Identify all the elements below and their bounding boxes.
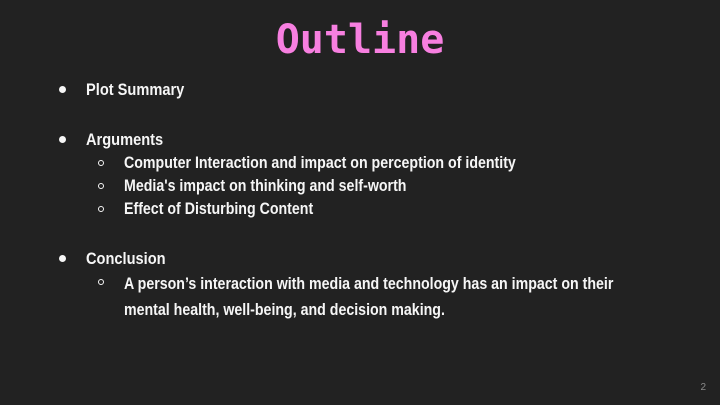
page-number: 2	[700, 382, 706, 394]
hollow-circle-bullet-icon	[98, 279, 104, 285]
filled-disc-bullet-icon	[59, 255, 66, 262]
outline-list: Plot Summary Arguments Computer Interact…	[56, 78, 676, 323]
outline-subitem-disturbing-content[interactable]: Effect of Disturbing Content	[56, 198, 676, 221]
outline-group-arguments: Arguments Computer Interaction and impac…	[56, 128, 676, 221]
outline-subitem-label: Effect of Disturbing Content	[124, 198, 599, 221]
outline-group-conclusion: Conclusion A person’s interaction with m…	[56, 247, 676, 323]
filled-disc-bullet-icon	[59, 86, 66, 93]
presentation-slide: Outline Plot Summary Arguments Computer …	[0, 0, 720, 405]
outline-item-conclusion[interactable]: Conclusion	[56, 247, 676, 271]
outline-subitem-list: A person’s interaction with media and te…	[56, 271, 676, 323]
outline-subitem-computer-interaction[interactable]: Computer Interaction and impact on perce…	[56, 152, 676, 175]
outline-item-label: Plot Summary	[86, 78, 593, 101]
outline-subitem-label: Computer Interaction and impact on perce…	[124, 152, 599, 175]
filled-disc-bullet-icon	[59, 136, 66, 143]
outline-subitem-conclusion-statement[interactable]: A person’s interaction with media and te…	[56, 271, 676, 323]
outline-subitem-label: Media's impact on thinking and self-wort…	[124, 175, 599, 198]
outline-item-plot-summary[interactable]: Plot Summary	[56, 78, 676, 102]
outline-item-arguments[interactable]: Arguments	[56, 128, 676, 152]
outline-item-label: Arguments	[86, 128, 593, 151]
outline-subitem-media-impact[interactable]: Media's impact on thinking and self-wort…	[56, 175, 676, 198]
hollow-circle-bullet-icon	[98, 206, 104, 212]
hollow-circle-bullet-icon	[98, 183, 104, 189]
hollow-circle-bullet-icon	[98, 160, 104, 166]
outline-group-plot-summary: Plot Summary	[56, 78, 676, 102]
outline-item-label: Conclusion	[86, 247, 593, 270]
page-title: Outline	[0, 17, 720, 63]
outline-subitem-list: Computer Interaction and impact on perce…	[56, 152, 676, 221]
spacer	[56, 102, 676, 128]
spacer	[56, 221, 676, 247]
outline-subitem-label: A person’s interaction with media and te…	[124, 271, 649, 323]
